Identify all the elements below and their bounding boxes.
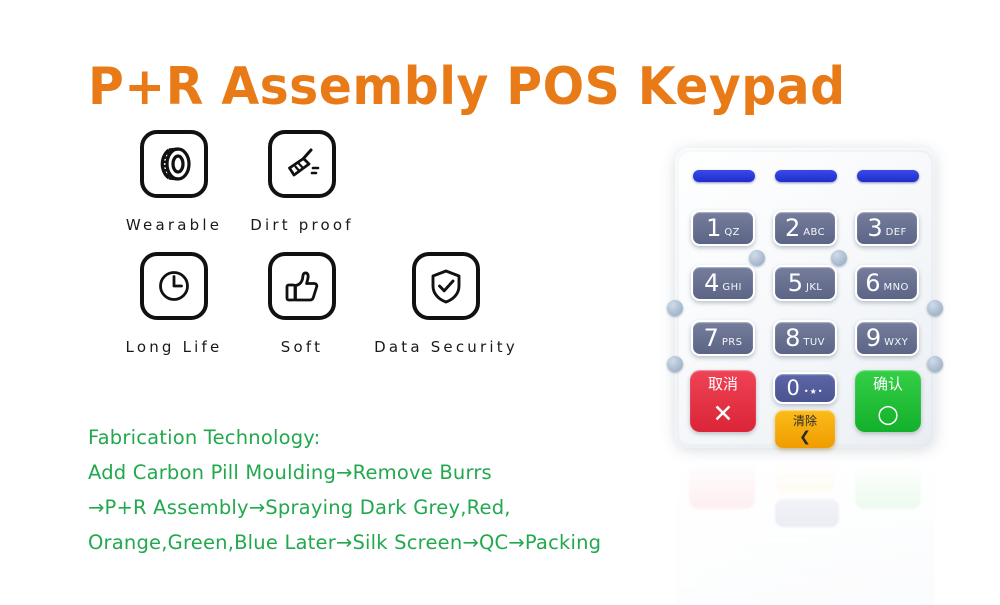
product-banner: P+R Assembly POS Keypad: [0, 0, 1000, 571]
key-4[interactable]: 4 GHI: [691, 265, 755, 301]
key-2[interactable]: 2 ABC: [773, 210, 837, 246]
key-5[interactable]: 5 JKL: [773, 265, 837, 301]
cross-icon: ✕: [713, 401, 734, 426]
key-letters: MNO: [884, 282, 909, 293]
alignment-peg: [927, 300, 943, 316]
key-confirm[interactable]: 确认 ○: [855, 370, 921, 432]
key-letters: WXY: [884, 337, 908, 348]
blue-bar-3[interactable]: [857, 170, 919, 182]
key-letters: GHI: [722, 282, 741, 293]
tire-icon: [140, 130, 208, 198]
key-digit: 0: [787, 376, 800, 400]
feature-label: Long Life: [126, 338, 223, 356]
key-clear-label: 清除: [793, 415, 817, 427]
key-0[interactable]: 0 •★•: [773, 372, 837, 404]
clock-icon: [140, 252, 208, 320]
feature-data-security: Data Security: [366, 252, 526, 356]
key-digit: 2: [785, 216, 800, 240]
key-letters: •★•: [804, 387, 824, 396]
key-cancel-label: 取消: [708, 377, 738, 392]
alignment-peg: [667, 300, 683, 316]
blue-bar-1[interactable]: [693, 170, 755, 182]
key-letters: PRS: [722, 337, 743, 348]
key-digit: 6: [865, 271, 880, 295]
fabrication-line-1: Add Carbon Pill Moulding→Remove Burrs: [88, 455, 601, 490]
key-3[interactable]: 3 DEF: [855, 210, 919, 246]
alignment-peg: [749, 250, 765, 266]
key-digit: 5: [788, 271, 803, 295]
key-cancel[interactable]: 取消 ✕: [690, 370, 756, 432]
key-digit: 9: [866, 326, 881, 350]
key-letters: QZ: [724, 227, 740, 238]
alignment-peg: [831, 250, 847, 266]
thumbs-up-icon: [268, 252, 336, 320]
feature-dirt-proof: Dirt proof: [238, 130, 366, 234]
feature-row-1: Wearable Dirt proof: [110, 130, 558, 234]
page-title: P+R Assembly POS Keypad: [88, 57, 846, 117]
blue-bar-2[interactable]: [775, 170, 837, 182]
alignment-peg: [667, 356, 683, 372]
feature-label: Wearable: [126, 216, 222, 234]
keypad-keys: 1 QZ 2 ABC 3 DEF 4 GHI 5 JKL 6 MNO: [675, 148, 935, 448]
feature-long-life: Long Life: [110, 252, 238, 356]
feature-row-2: Long Life Soft Data Se: [110, 252, 558, 356]
fabrication-heading: Fabrication Technology:: [88, 420, 601, 455]
fabrication-line-2: →P+R Assembly→Spraying Dark Grey,Red,: [88, 490, 601, 525]
key-digit: 3: [867, 216, 882, 240]
key-digit: 1: [706, 216, 721, 240]
key-digit: 4: [704, 271, 719, 295]
feature-label: Soft: [281, 338, 323, 356]
key-letters: TUV: [803, 337, 824, 348]
feature-label: Data Security: [374, 338, 518, 356]
key-7[interactable]: 7 PRS: [691, 320, 755, 356]
key-confirm-label: 确认: [873, 377, 903, 392]
key-digit: 8: [785, 326, 800, 350]
alignment-peg: [927, 356, 943, 372]
key-9[interactable]: 9 WXY: [855, 320, 919, 356]
shield-check-icon: [412, 252, 480, 320]
key-letters: ABC: [803, 227, 825, 238]
key-digit: 7: [704, 326, 719, 350]
key-letters: JKL: [806, 282, 822, 293]
feature-wearable: Wearable: [110, 130, 238, 234]
key-letters: DEF: [886, 227, 907, 238]
feature-label: Dirt proof: [250, 216, 354, 234]
key-clear[interactable]: 清除 ❮: [775, 410, 835, 448]
back-arrow-icon: ❮: [799, 430, 811, 444]
feature-soft: Soft: [238, 252, 366, 356]
key-1[interactable]: 1 QZ: [691, 210, 755, 246]
circle-icon: ○: [877, 401, 899, 426]
broom-icon: [268, 130, 336, 198]
keypad-product-image: 1 QZ 2 ABC 3 DEF 4 GHI 5 JKL 6 MNO: [645, 140, 975, 560]
fabrication-line-3: Orange,Green,Blue Later→Silk Screen→QC→P…: [88, 525, 601, 560]
key-6[interactable]: 6 MNO: [855, 265, 919, 301]
fabrication-technology: Fabrication Technology: Add Carbon Pill …: [88, 420, 601, 560]
feature-list: Wearable Dirt proof: [88, 130, 558, 356]
key-8[interactable]: 8 TUV: [773, 320, 837, 356]
keypad-reflection: [675, 455, 935, 605]
